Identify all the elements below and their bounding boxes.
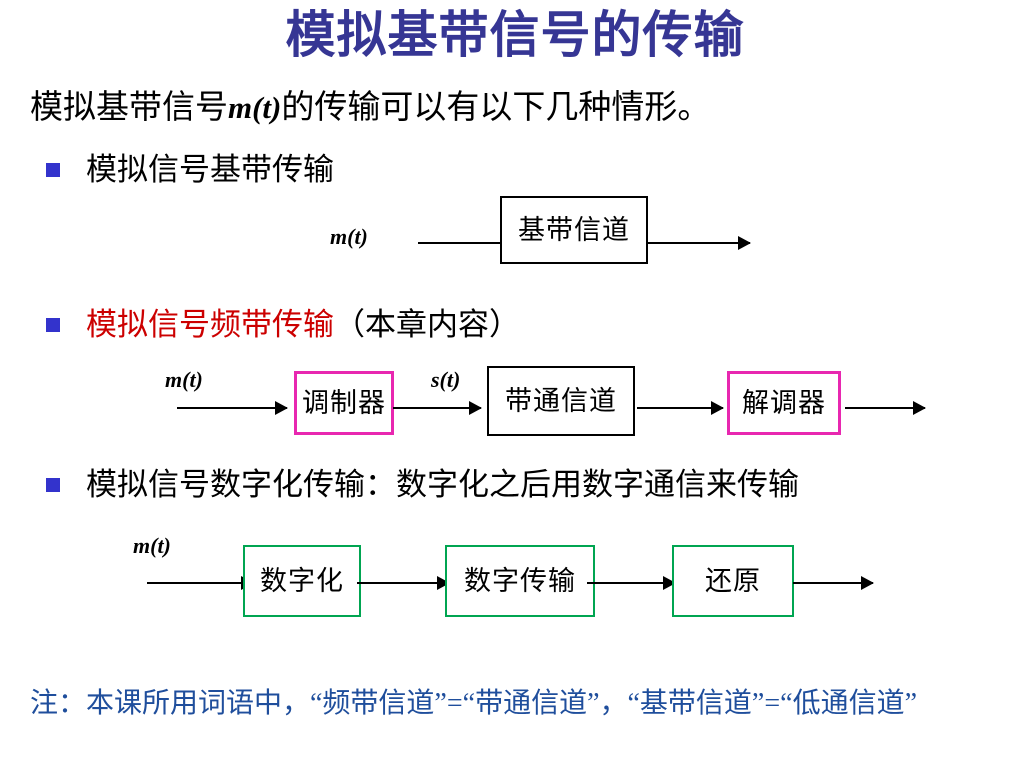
intro-text-before: 模拟基带信号 bbox=[30, 90, 228, 126]
diagram2-box-modulator: 调制器 bbox=[294, 371, 394, 435]
diagram-analog-digitized: m(t) 数字化 数字传输 还原 bbox=[125, 533, 915, 633]
diagram2-arrow-2 bbox=[393, 407, 481, 409]
intro-paragraph: 模拟基带信号m(t)的传输可以有以下几种情形。 bbox=[30, 86, 710, 130]
square-bullet-icon bbox=[46, 478, 60, 492]
diagram1-input-label: m(t) bbox=[330, 224, 368, 250]
diagram3-box-digital-transmission: 数字传输 bbox=[445, 545, 595, 617]
slide-canvas: 模拟基带信号的传输 模拟基带信号m(t)的传输可以有以下几种情形。 模拟信号基带… bbox=[0, 0, 1030, 767]
diagram3-arrow-2 bbox=[357, 582, 449, 584]
square-bullet-icon bbox=[46, 318, 60, 332]
diagram2-arrow-1 bbox=[177, 407, 287, 409]
bullet-item-3: 模拟信号数字化传输：数字化之后用数字通信来传输 bbox=[46, 465, 799, 505]
diagram2-input-label: m(t) bbox=[165, 367, 203, 393]
bullet-label-3: 模拟信号数字化传输：数字化之后用数字通信来传输 bbox=[86, 465, 799, 505]
intro-text-after: 的传输可以有以下几种情形。 bbox=[281, 90, 710, 126]
diagram-analog-baseband: m(t) 基带信道 bbox=[320, 196, 750, 286]
intro-math-variable: m(t) bbox=[228, 90, 281, 125]
diagram3-box-restore: 还原 bbox=[672, 545, 794, 617]
diagram1-arrow-output bbox=[648, 242, 750, 244]
diagram2-box-demodulator: 解调器 bbox=[727, 371, 841, 435]
diagram3-box-digitize: 数字化 bbox=[243, 545, 361, 617]
bullet-label-1: 模拟信号基带传输 bbox=[86, 150, 334, 190]
diagram2-mid-label: s(t) bbox=[431, 367, 460, 393]
diagram3-input-label: m(t) bbox=[133, 533, 171, 559]
diagram2-arrow-output bbox=[845, 407, 925, 409]
bullet-item-1: 模拟信号基带传输 bbox=[46, 150, 334, 190]
square-bullet-icon bbox=[46, 163, 60, 177]
diagram2-arrow-3 bbox=[637, 407, 723, 409]
bullet-item-2: 模拟信号频带传输（本章内容） bbox=[46, 305, 520, 345]
bullet-label-2-highlight: 模拟信号频带传输 bbox=[86, 305, 334, 345]
diagram3-arrow-3 bbox=[587, 582, 675, 584]
page-title: 模拟基带信号的传输 bbox=[0, 4, 1030, 66]
bullet-label-2-suffix: （本章内容） bbox=[334, 305, 520, 345]
diagram2-box-passband-channel: 带通信道 bbox=[487, 366, 635, 436]
diagram3-arrow-1 bbox=[147, 582, 253, 584]
diagram3-arrow-output bbox=[793, 582, 873, 584]
diagram1-box-baseband-channel: 基带信道 bbox=[500, 196, 648, 264]
diagram-analog-passband: m(t) 调制器 s(t) 带通信道 解调器 bbox=[155, 363, 925, 445]
footer-note: 注：本课所用词语中，“频带信道”=“带通信道”，“基带信道”=“低通信道” bbox=[30, 682, 990, 726]
